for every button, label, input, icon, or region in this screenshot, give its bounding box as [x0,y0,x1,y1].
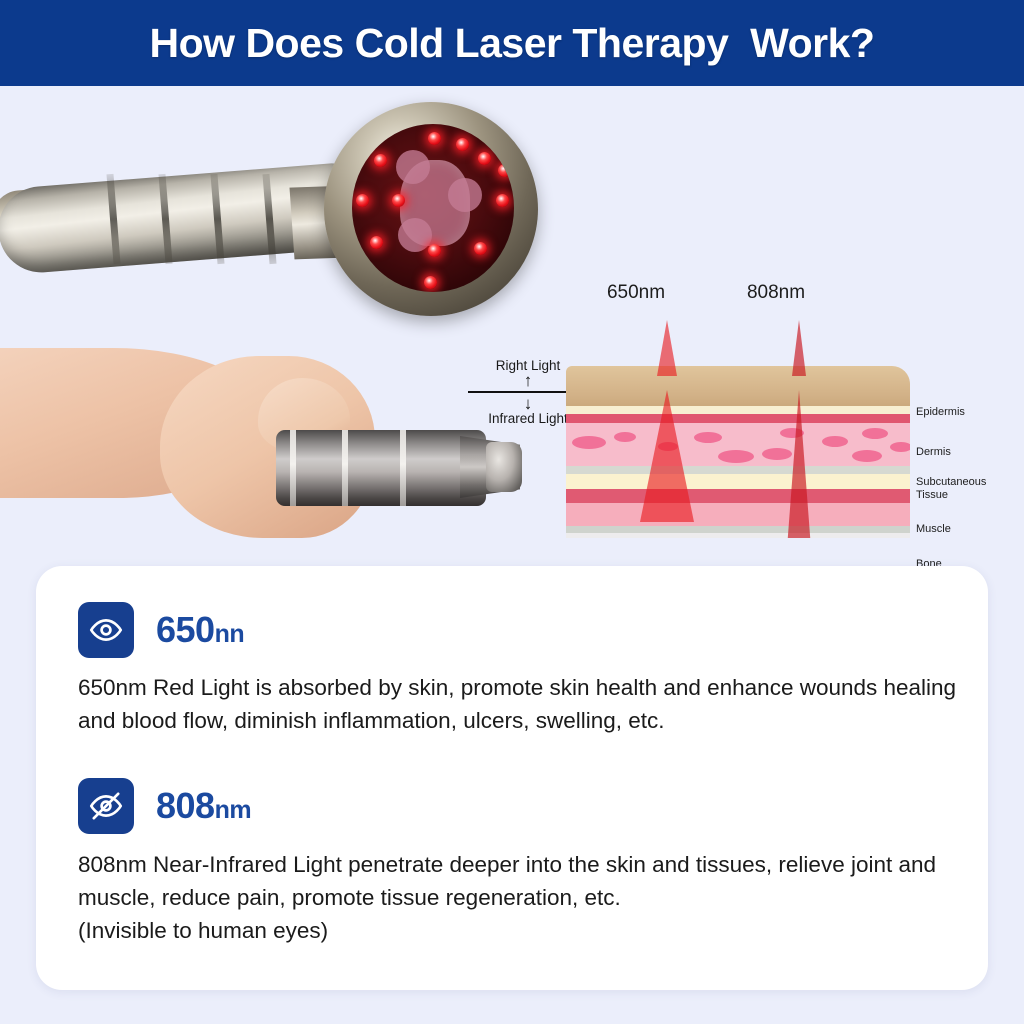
probe-center-lobe [398,218,432,252]
layer-label-dermis: Dermis [916,446,951,459]
info-card: 650nn 650nm Red Light is absorbed by ski… [36,566,988,990]
wavelength-label-650: 650nm [576,282,696,304]
led-dot [428,244,441,257]
skin-penetration-diagram: 650nm 808nm [566,282,910,538]
layer-label-subcutaneous: Subcutaneous Tissue [916,476,986,502]
section-650-title: 650nn [156,609,244,651]
led-dot [370,236,383,249]
blood-vessel [572,436,606,449]
layer-epidermis [566,366,910,408]
blood-vessel [614,432,636,442]
section-808-body: 808nm Near-Infrared Light penetrate deep… [78,848,968,947]
beam-650-upper [657,320,677,376]
section-808-title: 808nm [156,785,251,827]
wavelength-label-808: 808nm [716,282,836,304]
layer-bone [566,533,910,538]
layer-subcutaneous [566,474,910,490]
led-dot [392,194,405,207]
led-dot [478,152,491,165]
blood-vessel [890,442,910,452]
beam-808-upper [792,320,806,376]
page-title: How Does Cold Laser Therapy Work? [150,20,875,67]
section-808-number: 808 [156,785,215,826]
led-dot [474,242,487,255]
layer-label-muscle: Muscle [916,523,951,536]
led-dot [496,194,509,207]
led-dot [498,164,511,177]
cold-laser-probe-photo [0,94,552,344]
hero-illustration-area: Right Light ↑ ↓ Infrared Light 650nm 808… [0,86,1024,566]
blood-vessel [694,432,722,443]
blood-vessel [718,450,754,463]
wand-emitter-cap [486,442,522,492]
probe-center-lobe [448,178,482,212]
wand-band [342,430,348,506]
layer-label-epidermis: Epidermis [916,406,965,419]
skin-layer-stack [566,366,910,538]
led-dot [356,194,369,207]
section-650-body: 650nm Red Light is absorbed by skin, pro… [78,671,958,737]
header-bar: How Does Cold Laser Therapy Work? [0,0,1024,86]
eye-off-icon [78,778,134,834]
probe-led-window [352,124,514,292]
blood-vessel [852,450,882,462]
eye-icon [78,602,134,658]
section-808-unit: nm [215,796,252,824]
probe-center-lobe [396,150,430,184]
wand-band [400,430,406,506]
blood-vessel [862,428,888,439]
section-650-unit: nn [215,620,245,648]
layer-muscle-top [566,489,910,504]
blood-vessel [762,448,792,460]
probe-head [324,102,538,316]
led-dot [456,138,469,151]
blood-vessel [822,436,848,447]
layer-muscle [566,503,910,527]
led-dot [374,154,387,167]
led-dot [428,132,441,145]
wand-band [290,430,296,506]
section-808-header: 808nm [78,778,251,834]
laser-wand-body [276,430,486,506]
section-650-header: 650nn [78,602,244,658]
led-dot [424,276,437,289]
section-650-number: 650 [156,609,215,650]
